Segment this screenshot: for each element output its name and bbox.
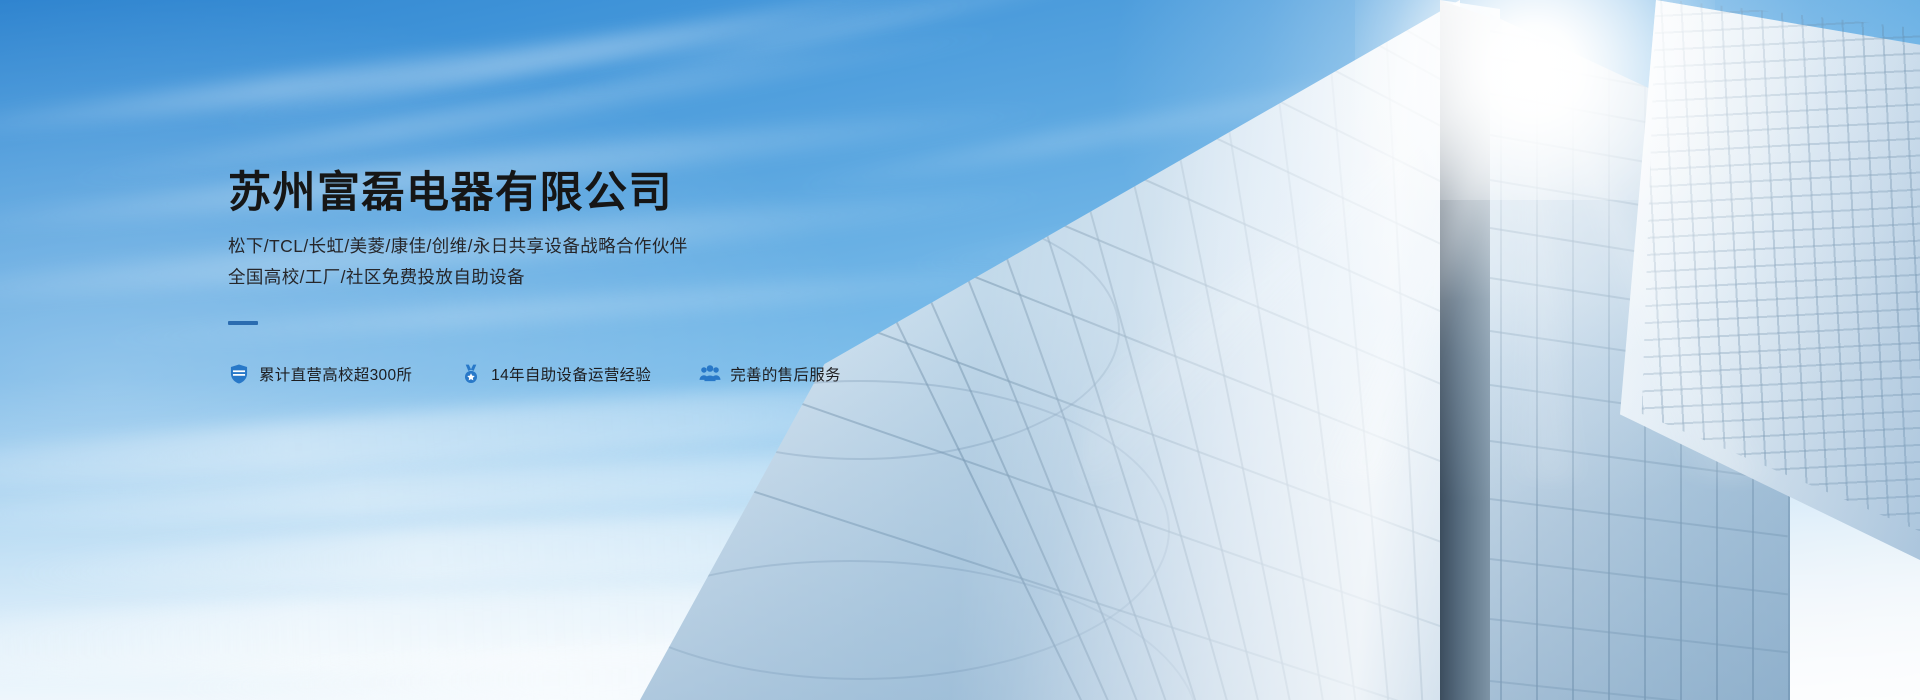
hero-subtitle-line-2: 全国高校/工厂/社区免费投放自助设备 — [228, 264, 988, 291]
feature-badge-label: 累计直营高校超300所 — [259, 363, 412, 385]
hero-subtitle-line-1: 松下/TCL/长虹/美菱/康佳/创维/永日共享设备战略合作伙伴 — [228, 233, 988, 260]
users-icon — [699, 363, 721, 385]
hero-banner: 苏州富磊电器有限公司 松下/TCL/长虹/美菱/康佳/创维/永日共享设备战略合作… — [0, 0, 1920, 700]
feature-badge-list: 累计直营高校超300所 14年自助设备运营经验 — [228, 363, 988, 385]
feature-badge-label: 14年自助设备运营经验 — [491, 363, 651, 385]
hero-content: 苏州富磊电器有限公司 松下/TCL/长虹/美菱/康佳/创维/永日共享设备战略合作… — [228, 168, 988, 385]
shield-icon — [228, 363, 250, 385]
page-title: 苏州富磊电器有限公司 — [228, 168, 988, 219]
feature-badge-schools: 累计直营高校超300所 — [228, 363, 412, 385]
feature-badge-service: 完善的售后服务 — [699, 363, 841, 385]
feature-badge-experience: 14年自助设备运营经验 — [460, 363, 651, 385]
medal-icon — [460, 363, 482, 385]
accent-divider — [228, 321, 258, 325]
feature-badge-label: 完善的售后服务 — [730, 363, 841, 385]
